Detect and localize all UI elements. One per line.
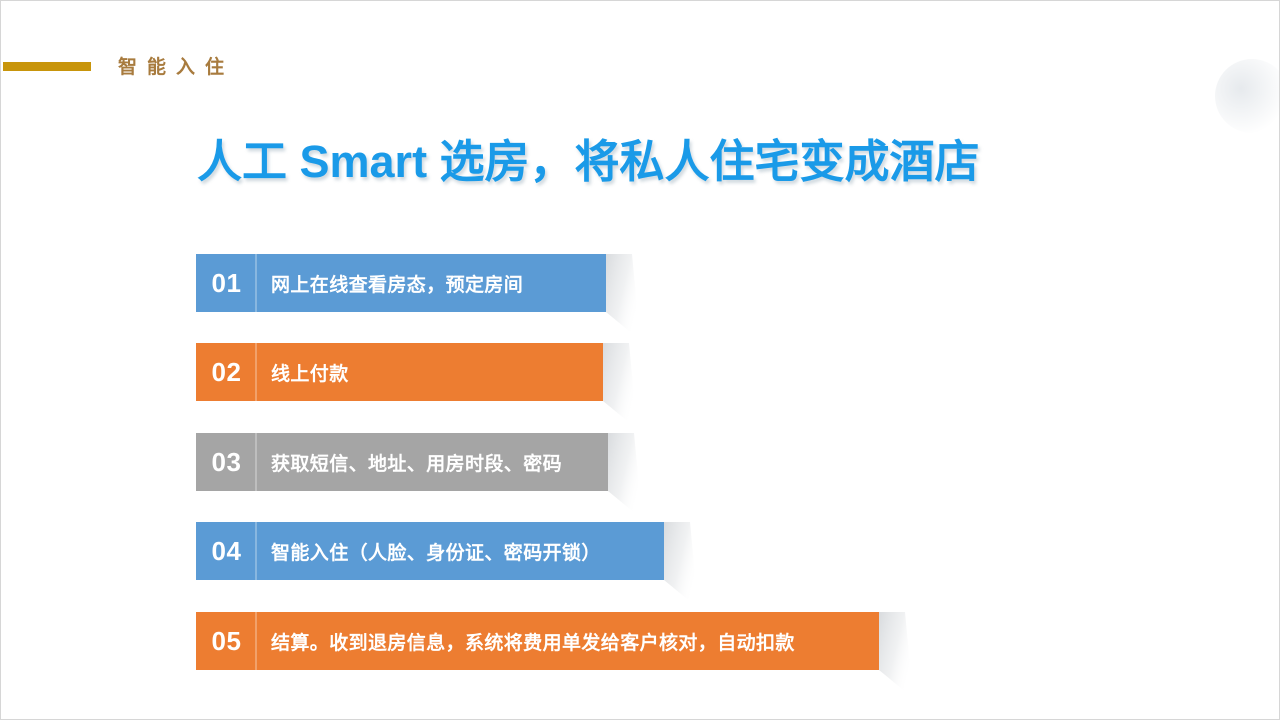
step-bar[interactable]: 04智能入住（人脸、身份证、密码开锁）: [196, 522, 664, 580]
step-label: 智能入住（人脸、身份证、密码开锁）: [257, 522, 621, 580]
step-row[interactable]: 03获取短信、地址、用房时段、密码: [196, 433, 608, 491]
slide-canvas: 智能入住 人工 Smart 选房，将私人住宅变成酒店 01网上在线查看房态，预定…: [0, 0, 1280, 720]
step-bar[interactable]: 01网上在线查看房态，预定房间: [196, 254, 606, 312]
step-bar[interactable]: 02线上付款: [196, 343, 603, 401]
step-shadow-wedge: [608, 433, 642, 521]
page-title: 人工 Smart 选房，将私人住宅变成酒店: [197, 133, 980, 191]
step-label: 线上付款: [257, 343, 369, 401]
step-row[interactable]: 05结算。收到退房信息，系统将费用单发给客户核对，自动扣款: [196, 612, 879, 670]
slide-kicker: 智能入住: [118, 54, 234, 82]
step-number: 01: [196, 254, 257, 312]
step-label: 结算。收到退房信息，系统将费用单发给客户核对，自动扣款: [257, 612, 815, 670]
step-number: 04: [196, 522, 257, 580]
step-bar[interactable]: 05结算。收到退房信息，系统将费用单发给客户核对，自动扣款: [196, 612, 879, 670]
step-row[interactable]: 02线上付款: [196, 343, 603, 401]
step-shadow-wedge: [879, 612, 913, 700]
step-label: 获取短信、地址、用房时段、密码: [257, 433, 582, 491]
step-row[interactable]: 04智能入住（人脸、身份证、密码开锁）: [196, 522, 664, 580]
step-shadow-wedge: [664, 522, 698, 610]
step-number: 02: [196, 343, 257, 401]
step-row[interactable]: 01网上在线查看房态，预定房间: [196, 254, 606, 312]
step-label: 网上在线查看房态，预定房间: [257, 254, 543, 312]
corner-glow-decoration: [1215, 59, 1280, 133]
step-bar[interactable]: 03获取短信、地址、用房时段、密码: [196, 433, 608, 491]
step-number: 03: [196, 433, 257, 491]
step-shadow-wedge: [603, 343, 637, 431]
gold-accent-rule: [3, 62, 91, 71]
step-shadow-wedge: [606, 254, 640, 342]
step-number: 05: [196, 612, 257, 670]
